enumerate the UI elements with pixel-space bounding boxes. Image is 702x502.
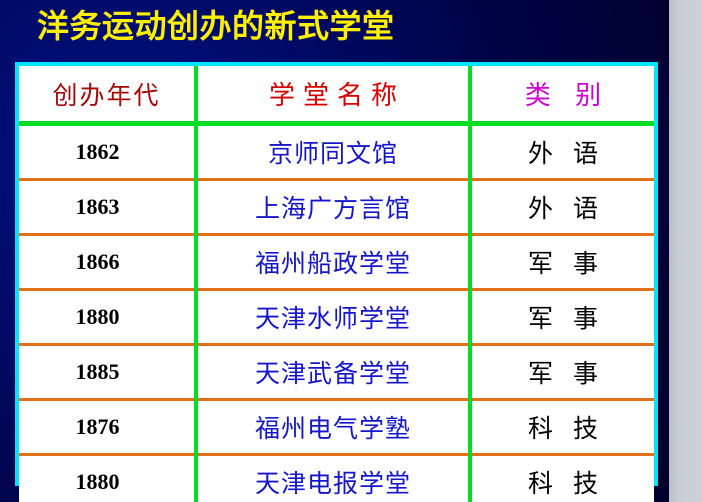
- header-cell-year: 创办年代: [19, 66, 196, 124]
- cell-name: 天津电报学堂: [196, 455, 470, 502]
- value-name: 上海广方言馆: [255, 194, 411, 223]
- cell-year: 1862: [19, 124, 196, 180]
- cell-type: 外 语: [470, 124, 654, 180]
- value-name: 天津水师学堂: [255, 304, 411, 333]
- value-name: 京师同文馆: [268, 139, 398, 168]
- value-type: 科 技: [522, 414, 604, 443]
- value-year: 1862: [76, 139, 120, 164]
- cell-name: 福州电气学塾: [196, 400, 470, 455]
- value-type: 外 语: [522, 139, 604, 168]
- header-cell-name: 学堂名称: [196, 66, 470, 124]
- cell-name: 上海广方言馆: [196, 180, 470, 235]
- header-label-year: 创办年代: [52, 81, 160, 110]
- cell-year: 1880: [19, 455, 196, 502]
- outside-slide-margin: [669, 0, 702, 502]
- value-type: 外 语: [522, 194, 604, 223]
- value-name: 天津电报学堂: [255, 469, 411, 498]
- value-type: 科 技: [522, 469, 604, 498]
- value-name: 福州船政学堂: [255, 249, 411, 278]
- table-row: 1866 福州船政学堂 军 事: [19, 235, 654, 290]
- table-body: 创办年代 学堂名称 类 别 1862: [19, 66, 654, 502]
- value-year: 1863: [76, 194, 120, 219]
- table-row: 1885 天津武备学堂 军 事: [19, 345, 654, 400]
- table-header-row: 创办年代 学堂名称 类 别: [19, 66, 654, 124]
- value-year: 1880: [76, 469, 120, 494]
- cell-type: 外 语: [470, 180, 654, 235]
- page-title: 洋务运动创办的新式学堂: [37, 6, 395, 46]
- cell-type: 科 技: [470, 400, 654, 455]
- value-year: 1866: [76, 249, 120, 274]
- cell-type: 科 技: [470, 455, 654, 502]
- table-row: 1876 福州电气学塾 科 技: [19, 400, 654, 455]
- value-type: 军 事: [522, 359, 604, 388]
- value-type: 军 事: [522, 249, 604, 278]
- cell-year: 1885: [19, 345, 196, 400]
- value-name: 福州电气学塾: [255, 414, 411, 443]
- cell-year: 1876: [19, 400, 196, 455]
- value-year: 1885: [76, 359, 120, 384]
- cell-type: 军 事: [470, 290, 654, 345]
- cell-type: 军 事: [470, 345, 654, 400]
- cell-year: 1866: [19, 235, 196, 290]
- header-label-name: 学堂名称: [261, 81, 405, 111]
- cell-name: 京师同文馆: [196, 124, 470, 180]
- schools-table-container: 创办年代 学堂名称 类 别 1862: [15, 62, 658, 486]
- value-year: 1876: [76, 414, 120, 439]
- value-type: 军 事: [522, 304, 604, 333]
- table-row: 1863 上海广方言馆 外 语: [19, 180, 654, 235]
- header-cell-type: 类 别: [470, 66, 654, 124]
- cell-type: 军 事: [470, 235, 654, 290]
- table-row: 1862 京师同文馆 外 语: [19, 124, 654, 180]
- header-label-type: 类 别: [517, 81, 609, 111]
- cell-name: 天津水师学堂: [196, 290, 470, 345]
- schools-table: 创办年代 学堂名称 类 别 1862: [19, 66, 654, 502]
- table-row: 1880 天津电报学堂 科 技: [19, 455, 654, 502]
- value-year: 1880: [76, 304, 120, 329]
- cell-name: 福州船政学堂: [196, 235, 470, 290]
- cell-year: 1863: [19, 180, 196, 235]
- cell-year: 1880: [19, 290, 196, 345]
- table-row: 1880 天津水师学堂 军 事: [19, 290, 654, 345]
- presentation-slide-screenshot: 洋务运动创办的新式学堂 创办年代 学堂名称: [0, 0, 702, 502]
- slide-canvas: 洋务运动创办的新式学堂 创办年代 学堂名称: [0, 0, 669, 502]
- value-name: 天津武备学堂: [255, 359, 411, 388]
- cell-name: 天津武备学堂: [196, 345, 470, 400]
